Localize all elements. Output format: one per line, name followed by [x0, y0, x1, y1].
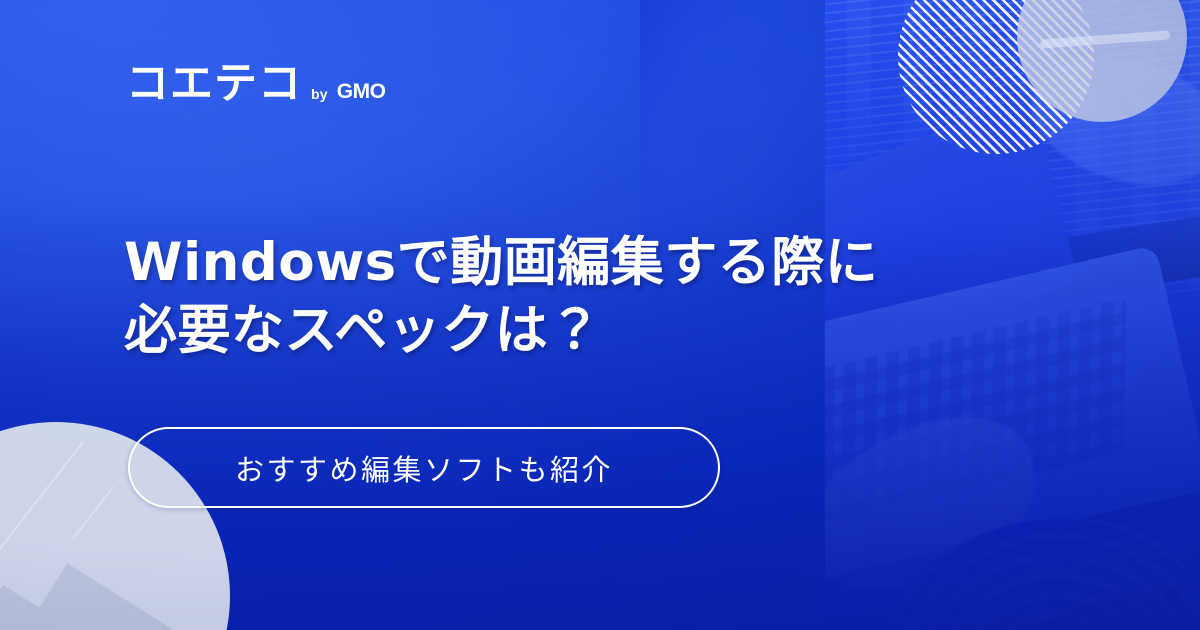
logo-mark-text: コエテコ: [126, 63, 302, 106]
logo-by-text: by: [311, 86, 328, 106]
logo-brand-text: GMO: [337, 80, 386, 106]
logo-koeteco-by-gmo[interactable]: コエテコ by GMO: [126, 63, 385, 106]
page-title-line-1: Windowsで動画編集する際に: [124, 229, 884, 298]
subtitle-pill-label: おすすめ編集ソフトも紹介: [235, 447, 613, 489]
subtitle-pill-button[interactable]: おすすめ編集ソフトも紹介: [128, 427, 720, 508]
page-title: Windowsで動画編集する際に 必要なスペックは？: [124, 229, 884, 367]
page-title-line-2: 必要なスペックは？: [124, 297, 884, 366]
og-image-canvas: コエテコ by GMO Windowsで動画編集する際に 必要なスペックは？ お…: [0, 0, 1200, 630]
